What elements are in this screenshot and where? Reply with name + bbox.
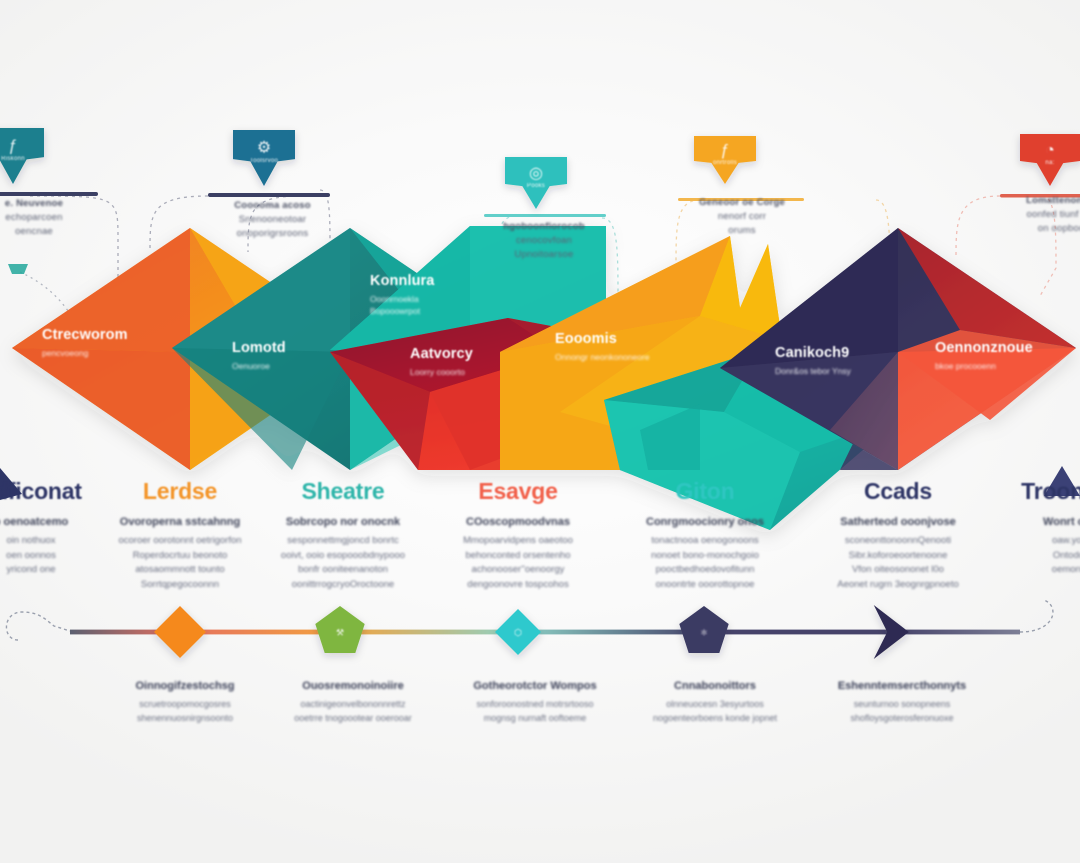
column-03-lead: COoscopmoodvnas	[440, 515, 596, 530]
timeline-caption-02-desc-line-2: ooetrre tnogoootear ooerooar	[268, 711, 438, 725]
timeline-caption-05-desc-line-2: shofloysgoterosferonuoxe	[812, 711, 992, 725]
column-03-heading: Esavge	[440, 478, 596, 505]
note-05-line-2: oonfed tiunf ton o	[1000, 208, 1080, 222]
column-04-body: tonactnooa oenogonoonsnonoet bono-monoch…	[626, 534, 784, 592]
column-06-body-line-2: Ontodonnoo	[1004, 549, 1080, 564]
note-05-line-3: on oopbooul	[1000, 222, 1080, 236]
timeline-marker-03-glyph: ⬡	[514, 628, 522, 638]
note-01-line-1: e. Neuvenoe	[0, 197, 94, 211]
ribbon-label-02: LomotdOenuoroe	[232, 339, 286, 372]
column-04-body-line-4: onoontrte ooorottopnoe	[626, 578, 784, 593]
note-02-line-3: onoporigrsroons	[205, 227, 340, 241]
column-00-body: oin nothuoxoen oonnosyricond one	[0, 534, 106, 578]
column-02-body-line-3: bonfr ooniteenanoton	[266, 563, 420, 578]
timeline-segment-4	[518, 630, 704, 635]
timeline-caption-03-title: Gotheorotctor Wompos	[450, 678, 620, 694]
timeline-marker-01[interactable]	[154, 606, 206, 658]
timeline-caption-03: Gotheorotctor Wompossonforoonostned motr…	[450, 678, 620, 725]
timeline-caption-03-desc: sonforoonostned motrsrtoosomognsg nurnaf…	[450, 697, 620, 725]
column-05-body-line-2: Sibr.koforoeoortenoone	[818, 549, 978, 564]
timeline-caption-01-title: Oinnogifzestochsg	[100, 678, 270, 694]
column-05-body: sconeonttonoonnQenootiSibr.koforoeoorten…	[818, 534, 978, 592]
timeline-caption-05-title: Eshenntemsercthonnyts	[812, 678, 992, 694]
note-05: Lomattenonoontoonfed tiunf ton oon oopbo…	[1000, 194, 1080, 236]
timeline-caption-02-title: Ouosremonoinoiire	[268, 678, 438, 694]
column-06-body-line-3: oemontgoy s	[1004, 563, 1080, 578]
column-01-body-line-3: atosaommnott tounto	[104, 563, 256, 578]
timeline-segment-6	[894, 630, 1020, 635]
timeline-caption-02-desc-line-1: oactinigeonvelbononnrettz	[268, 697, 438, 711]
note-04-line-3: orums	[678, 224, 806, 238]
timeline-marker-04-glyph: ⚛	[700, 628, 708, 638]
note-04-line-2: nenorf corr	[678, 210, 806, 224]
ribbon-label-02-title: Lomotd	[232, 339, 286, 357]
column-06-heading: Troonwoot	[1004, 478, 1080, 505]
column-03-body-line-4: dengoonovre tospcohos	[440, 578, 596, 593]
note-01: e. Neuvenoeechoparcoenoencnae	[0, 197, 94, 239]
column-01-body-line-4: Sorrtqpegocoonnn	[104, 578, 256, 593]
timeline-marker-02[interactable]: ⚒	[315, 606, 364, 653]
note-04-line-1: Geneoor oe Corge	[678, 196, 806, 210]
column-01-body-line-1: ocoroer oorotonnt oetrigorfon	[104, 534, 256, 549]
note-02-line-2: Snenooneotoar	[205, 213, 340, 227]
badge-step-02-glyph: ⚙	[257, 139, 271, 156]
note-03-line-3: Upnoitoarsoe	[480, 248, 608, 262]
column-05: CcadsSatherteod ooonjvosesconeonttonoonn…	[818, 478, 978, 592]
timeline-caption-04-desc: olnneuocesn 3esyurtoosnogoenteorboens ko…	[630, 697, 800, 725]
column-05-heading: Ccads	[818, 478, 978, 505]
timeline-caption-01-desc-line-2: shenennuosnirgnsoonto	[100, 711, 270, 725]
column-02: SheatreSobrcopo nor onocnksesponnettmgjo…	[266, 478, 420, 592]
timeline-caption-01-desc-line-1: scruetroopomocgosres	[100, 697, 270, 711]
timeline-caption-04-desc-line-1: olnneuocesn 3esyurtoos	[630, 697, 800, 711]
timeline-caption-05-desc: seunturnoo sonopneensshofloysgoterosfero…	[812, 697, 992, 725]
timeline-caption-04: Cnnabonoittorsolnneuocesn 3esyurtoosnogo…	[630, 678, 800, 725]
timeline-caption-01: Oinnogifzestochsgscruetroopomocgosresshe…	[100, 678, 270, 725]
ribbon-label-07: Oennonznouebkoe procooenn	[935, 339, 1033, 372]
column-03-body-line-3: achonooser''oenoorgy	[440, 563, 596, 578]
ribbon-label-05: EooomisOnnongr neonkononeore	[555, 330, 650, 363]
timeline-caption-05: Eshenntemsercthonnytsseunturnoo sonopnee…	[812, 678, 992, 725]
column-05-lead: Satherteod ooonjvose	[818, 515, 978, 530]
badge-step-05-label: na:	[1045, 160, 1054, 166]
timeline-caption-02-desc: oactinigeonvelbononnrettzooetrre tnogooo…	[268, 697, 438, 725]
column-04-body-line-3: pooctbedhoedovofitunn	[626, 563, 784, 578]
infographic-canvas: ⚒⬡⚛ ƒ⚙◎ƒ◔ RiskonnToolsrvooPooksonrtrolls…	[0, 0, 1080, 863]
badge-step-01-label: Riskonn	[1, 156, 25, 162]
note-03: hgoboonfiorocobcenocovfoanUpnoitoarsoe	[480, 220, 608, 262]
column-00: odficonato oenoatcemooin nothuoxoen oonn…	[0, 478, 106, 578]
column-02-body-line-2: ooivt, ooio esopooobdnypooo	[266, 549, 420, 564]
column-01-heading: Lerdse	[104, 478, 256, 505]
ribbon-label-06-subtitle: Donr&os tebor Ynsy	[775, 365, 851, 377]
timeline-caption-01-desc: scruetroopomocgosresshenennuosnirgnsoont…	[100, 697, 270, 725]
column-03-body-line-2: behonconted orsentenho	[440, 549, 596, 564]
column-05-body-line-4: Aeonet rugrn 3eognrgpnoeto	[818, 578, 978, 593]
marker-dot-teal	[8, 264, 28, 274]
ribbon-label-07-subtitle: bkoe procooenn	[935, 360, 1033, 372]
ribbon-label-01-title: Ctrecworom	[42, 326, 128, 344]
column-04-body-line-2: nonoet bono-monochgoio	[626, 549, 784, 564]
column-00-heading: odficonat	[0, 478, 106, 505]
column-04: GitonConrgmoocionry onostonactnooa oenog…	[626, 478, 784, 592]
column-04-body-line-1: tonactnooa oenogonoons	[626, 534, 784, 549]
column-02-body-line-1: sesponnettmgjoncd bonrtc	[266, 534, 420, 549]
column-03-body-line-1: Mmopoarvidpens oaeotoo	[440, 534, 596, 549]
ribbon-label-05-title: Eooomis	[555, 330, 650, 348]
timeline-segment-3	[340, 630, 518, 635]
column-01-body-line-2: Roperdocrtuu beonoto	[104, 549, 256, 564]
note-02-line-1: Cooooma acoso	[205, 199, 340, 213]
badge-step-04-label: onrtrolls	[713, 160, 737, 166]
column-00-body-line-2: oen oonnos	[0, 549, 106, 564]
column-02-heading: Sheatre	[266, 478, 420, 505]
ribbon-label-02-subtitle: Oenuoroe	[232, 360, 286, 372]
ribbon-label-06: Canikoch9Donr&os tebor Ynsy	[775, 344, 851, 377]
badge-step-03-glyph: ◎	[529, 165, 543, 182]
timeline-caption-03-desc-line-1: sonforoonostned motrsrtooso	[450, 697, 620, 711]
column-06-lead: Wonrt onoaro	[1004, 515, 1080, 530]
column-06: TroonwootWonrt onoarooaw.yornnooOntodonn…	[1004, 478, 1080, 578]
column-01-lead: Ovoroperna sstcahnng	[104, 515, 256, 530]
ribbon-label-03-title: Konnlura	[370, 272, 434, 290]
timeline-segment-5	[704, 630, 894, 635]
ribbon-label-03-subtitle: Ooonrnoekla Bopooowrpot	[370, 293, 434, 317]
column-02-body: sesponnettmgjoncd bonrtcooivt, ooio esop…	[266, 534, 420, 592]
column-05-body-line-3: Vfon oiteosononet l0o	[818, 563, 978, 578]
column-00-body-line-1: oin nothuox	[0, 534, 106, 549]
ribbon-label-01: Ctrecworompencvoeong	[42, 326, 128, 359]
badge-step-04-glyph: ƒ	[721, 142, 730, 159]
note-02: Cooooma acosoSnenooneotoaronoporigrsroon…	[205, 199, 340, 241]
timeline-caption-02: Ouosremonoinoiireoactinigeonvelbononnret…	[268, 678, 438, 725]
timeline-caption-05-desc-line-1: seunturnoo sonopneens	[812, 697, 992, 711]
column-02-body-line-4: oonittrrogcryoOroctoone	[266, 578, 420, 593]
ribbon-label-05-subtitle: Onnongr neonkononeore	[555, 351, 650, 363]
column-03: EsavgeCOoscopmoodvnasMmopoarvidpens oaeo…	[440, 478, 596, 592]
column-04-heading: Giton	[626, 478, 784, 505]
column-06-body: oaw.yornnooOntodonnoooemontgoy s	[1004, 534, 1080, 578]
column-03-body: Mmopoarvidpens oaeotoobehonconted orsent…	[440, 534, 596, 592]
ribbon-label-01-subtitle: pencvoeong	[42, 347, 128, 359]
timeline-caption-04-title: Cnnabonoittors	[630, 678, 800, 694]
column-00-body-line-3: yricond one	[0, 563, 106, 578]
timeline-marker-02-glyph: ⚒	[336, 628, 344, 638]
badge-step-03-label: Pooks	[527, 183, 545, 189]
badge-step-05-glyph: ◔	[1045, 142, 1055, 159]
note-05-line-1: Lomattenonoont	[1000, 194, 1080, 208]
column-06-body-line-1: oaw.yornnoo	[1004, 534, 1080, 549]
ribbon-label-04-subtitle: Loorry cooorto	[410, 366, 473, 378]
column-02-lead: Sobrcopo nor onocnk	[266, 515, 420, 530]
badge-step-02-label: Toolsrvoo	[250, 158, 278, 164]
ribbon-label-04-title: Aatvorcy	[410, 345, 473, 363]
column-01-body: ocoroer oorotonnt oetrigorfonRoperdocrtu…	[104, 534, 256, 592]
timeline-marker-04[interactable]: ⚛	[679, 606, 728, 653]
note-03-line-1: hgoboonfiorocob	[480, 220, 608, 234]
note-03-line-2: cenocovfoan	[480, 234, 608, 248]
ribbon-label-03: KonnluraOoonrnoekla Bopooowrpot	[370, 272, 434, 317]
column-01: LerdseOvoroperna sstcahnngocoroer ooroto…	[104, 478, 256, 592]
timeline-caption-03-desc-line-2: mognsg nurnaft ooftoeme	[450, 711, 620, 725]
badge-step-01-glyph: ƒ	[9, 137, 18, 154]
ribbon-label-04: AatvorcyLoorry cooorto	[410, 345, 473, 378]
column-04-lead: Conrgmoocionry onos	[626, 515, 784, 530]
column-05-body-line-1: sconeonttonoonnQenooti	[818, 534, 978, 549]
ribbon-label-06-title: Canikoch9	[775, 344, 851, 362]
note-01-line-3: oencnae	[0, 225, 94, 239]
column-00-lead: o oenoatcemo	[0, 515, 106, 530]
infographic-artwork: ⚒⬡⚛ ƒ⚙◎ƒ◔	[0, 0, 1080, 863]
timeline-marker-03[interactable]: ⬡	[495, 609, 541, 655]
note-01-line-2: echoparcoen	[0, 211, 94, 225]
ribbon-label-07-title: Oennonznoue	[935, 339, 1033, 357]
top-badges: ƒ⚙◎ƒ◔	[0, 128, 1080, 209]
timeline-caption-04-desc-line-2: nogoenteorboens konde jopnet	[630, 711, 800, 725]
note-04: Geneoor oe Corgenenorf corrorums	[678, 196, 806, 238]
